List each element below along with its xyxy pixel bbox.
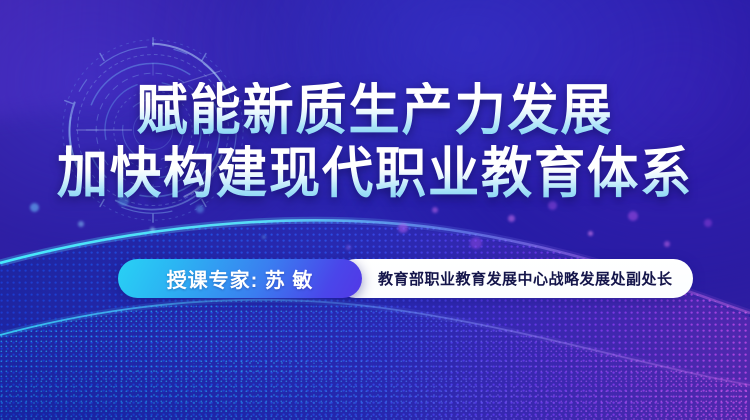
speaker-name-label: 授课专家: 苏 敏 xyxy=(167,264,314,293)
poster-title: 赋能新质生产力发展 加快构建现代职业教育体系 xyxy=(0,82,750,201)
title-line-2: 加快构建现代职业教育体系 xyxy=(26,145,724,201)
speaker-bar: 授课专家: 苏 敏 教育部职业教育发展中心战略发展处副处长 xyxy=(118,259,693,298)
title-line-1: 赋能新质生产力发展 xyxy=(26,82,724,138)
speaker-affiliation-bar: 教育部职业教育发展中心战略发展处副处长 xyxy=(336,259,693,298)
promo-banner: 赋能新质生产力发展 加快构建现代职业教育体系 授课专家: 苏 敏 教育部职业教育… xyxy=(0,0,750,420)
particle-wave-mesh xyxy=(0,185,750,420)
speaker-affiliation-label: 教育部职业教育发展中心战略发展处副处长 xyxy=(378,268,673,289)
speaker-name-pill: 授课专家: 苏 敏 xyxy=(118,259,362,298)
